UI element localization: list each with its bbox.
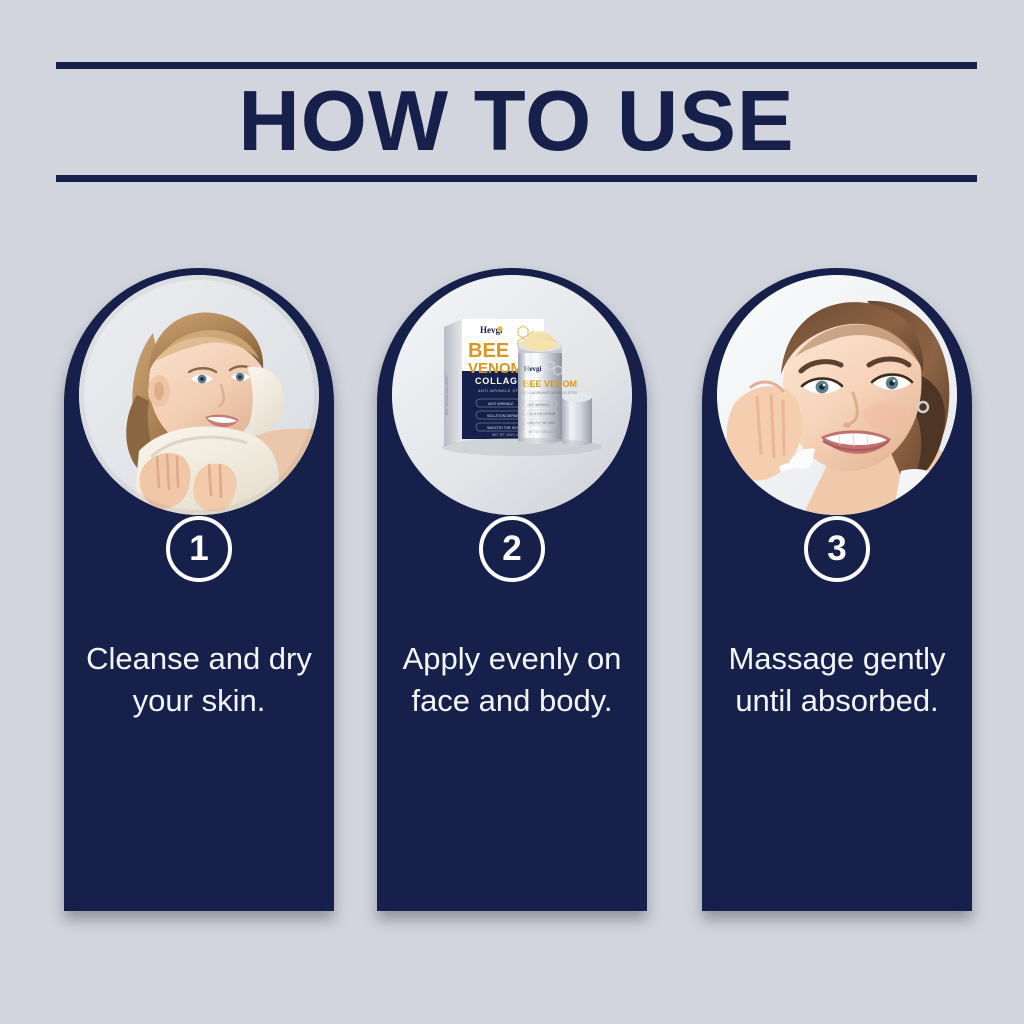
svg-text:BEE VENOM: BEE VENOM [523,379,577,389]
page-title: HOW TO USE [56,69,977,175]
step-card-2[interactable]: Hevgi BEE VENOM COLLAGEN ANTI-WRINKLE ST… [377,268,647,911]
woman-massaging-face-smiling-image [717,275,957,515]
step-2-caption: Apply evenly on face and body. [391,638,633,722]
step-card-1[interactable]: 1 Cleanse and dry your skin. [64,268,334,911]
svg-text:SOLUTION DERMIS: SOLUTION DERMIS [526,412,556,416]
header: HOW TO USE [56,62,977,182]
photo-3-graphic [717,275,957,515]
svg-text:SMOOTH THE SKIN: SMOOTH THE SKIN [487,426,521,430]
step-2-photo: Hevgi BEE VENOM COLLAGEN ANTI-WRINKLE ST… [389,272,635,518]
title-rule-top [56,62,977,69]
svg-text:ANTI WRINKLE: ANTI WRINKLE [527,403,550,407]
photo-1-graphic [79,275,319,515]
step-3-number-badge: 3 [804,516,870,582]
svg-text:BEE VENOM COLLAGEN: BEE VENOM COLLAGEN [445,375,449,415]
step-card-3[interactable]: 3 Massage gently until absorbed. [702,268,972,911]
photo-2-graphic: Hevgi BEE VENOM COLLAGEN ANTI-WRINKLE ST… [392,275,632,515]
title-rule-bottom [56,175,977,182]
svg-text:SOLUTION DERMIS: SOLUTION DERMIS [487,414,521,418]
step-1-number-badge: 1 [166,516,232,582]
step-2-number-badge: 2 [479,516,545,582]
step-3-photo [714,272,960,518]
svg-text:SMOOTH THE SKIN: SMOOTH THE SKIN [526,421,556,425]
step-1-caption: Cleanse and dry your skin. [78,638,320,722]
woman-drying-face-with-towel-image [79,275,319,515]
step-3-caption: Massage gently until absorbed. [716,638,958,722]
svg-text:VENOM: VENOM [468,360,523,377]
svg-text:COLLAGEN ANTI-WRINKLE STICK: COLLAGEN ANTI-WRINKLE STICK [523,391,578,395]
svg-text:BEE: BEE [468,340,509,362]
step-1-photo [76,272,322,518]
bee-venom-collagen-stick-product-image: Hevgi BEE VENOM COLLAGEN ANTI-WRINKLE ST… [392,275,632,515]
svg-text:NET WT 40G/1.4OZ: NET WT 40G/1.4OZ [528,430,557,434]
svg-text:ANTI WRINKLE: ANTI WRINKLE [488,402,514,406]
steps-container: 1 Cleanse and dry your skin. [0,268,1024,928]
